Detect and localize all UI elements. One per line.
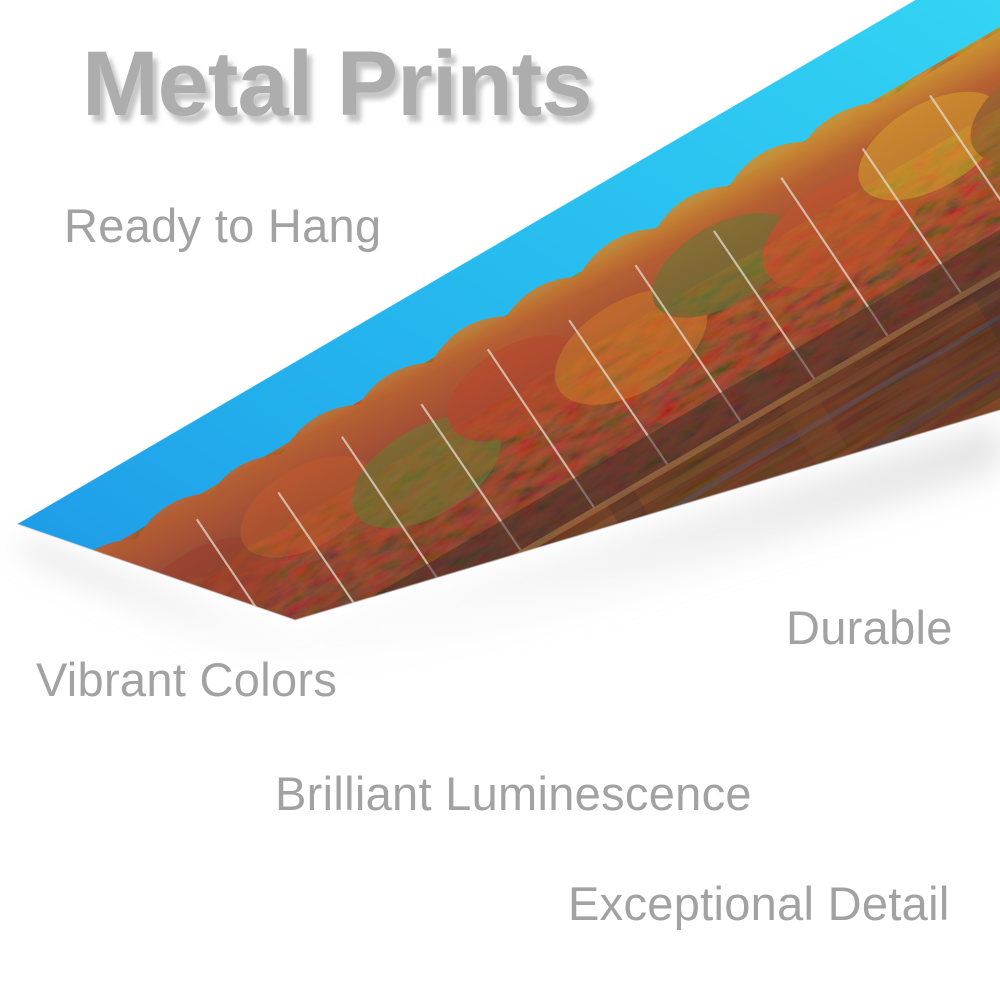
page-title: Metal Prints: [82, 36, 591, 133]
feature-brilliant-luminescence: Brilliant Luminescence: [275, 768, 752, 820]
feature-exceptional-detail: Exceptional Detail: [568, 878, 950, 930]
feature-ready-to-hang: Ready to Hang: [64, 200, 381, 252]
metal-prints-promo-canvas: Metal Prints Ready to Hang Vibrant Color…: [0, 0, 1000, 1000]
feature-vibrant-colors: Vibrant Colors: [36, 654, 337, 706]
metal-print-panel: [0, 0, 1000, 1000]
feature-durable: Durable: [786, 602, 953, 654]
